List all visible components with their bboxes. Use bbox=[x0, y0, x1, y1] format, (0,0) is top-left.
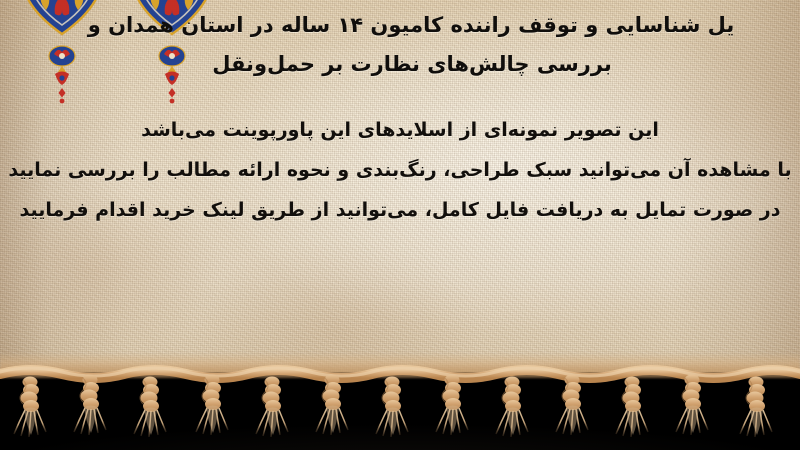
body-line-3: در صورت تمایل به دریافت فایل کامل، می‌تو… bbox=[0, 190, 800, 230]
slide-canvas: یل شناسایی و توقف راننده کامیون ۱۴ ساله … bbox=[0, 0, 800, 450]
title-line-2: بررسی چالش‌های نظارت بر حمل‌ونقل bbox=[0, 45, 800, 84]
slide-title: یل شناسایی و توقف راننده کامیون ۱۴ ساله … bbox=[0, 6, 800, 84]
slide-body: این تصویر نمونه‌ای از اسلایدهای این پاور… bbox=[0, 110, 800, 230]
body-line-2: با مشاهده آن می‌توانید سبک طراحی، رنگ‌بن… bbox=[0, 150, 800, 190]
title-line-1: یل شناسایی و توقف راننده کامیون ۱۴ ساله … bbox=[0, 6, 800, 45]
slide-text-layer: یل شناسایی و توقف راننده کامیون ۱۴ ساله … bbox=[0, 0, 800, 378]
body-line-1: این تصویر نمونه‌ای از اسلایدهای این پاور… bbox=[0, 110, 800, 150]
carpet-bottom-black-band bbox=[0, 372, 800, 450]
